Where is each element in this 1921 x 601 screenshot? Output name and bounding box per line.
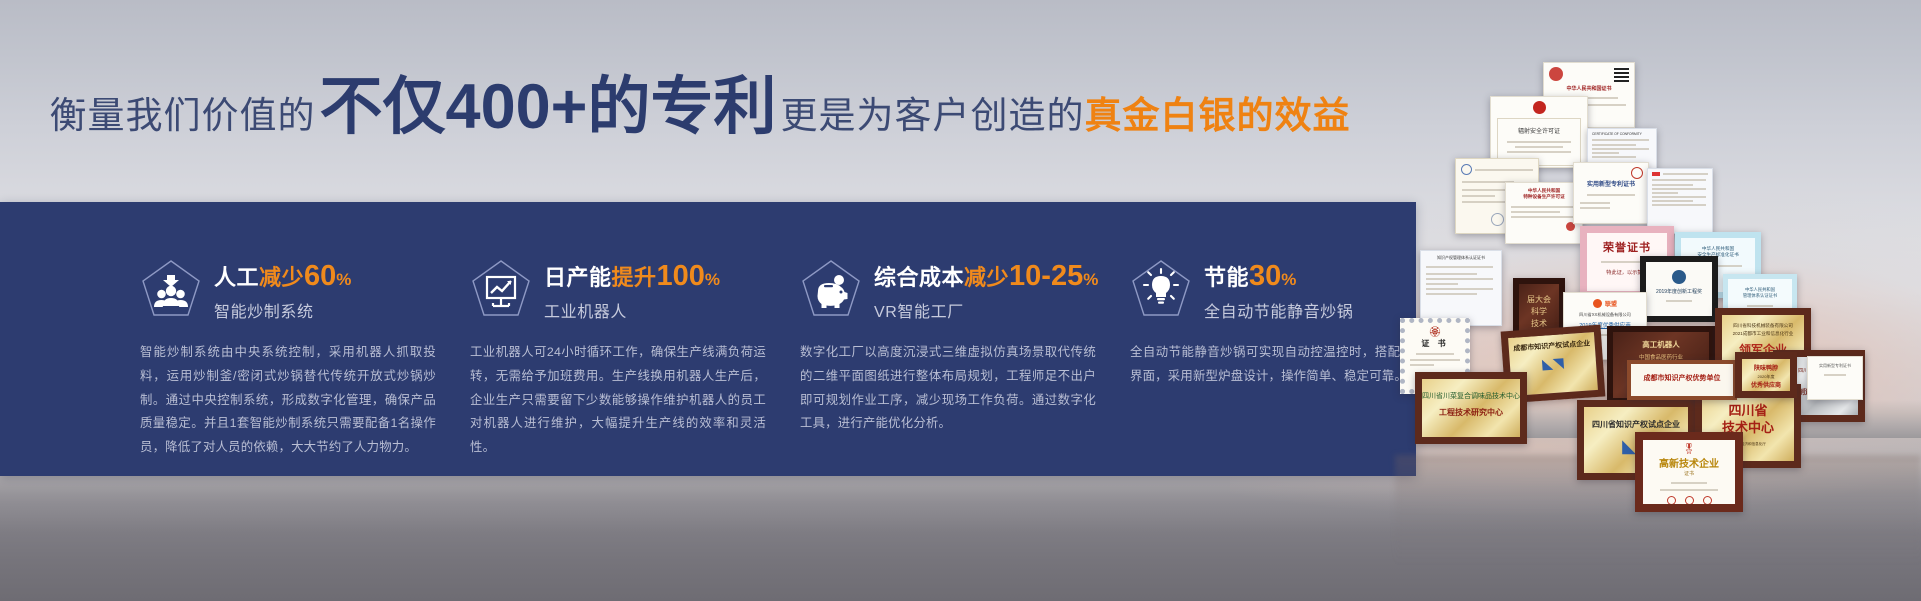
certificate-item: 知识产权管理体系认证证书 (1420, 250, 1502, 326)
award-plaque: 🎖 高新技术企业 证书 (1635, 432, 1743, 512)
feature-title-number: 100 (657, 260, 705, 292)
feature-title-percent: % (336, 270, 351, 289)
feature-item-labor-reduction: 人工减少60% 智能炒制系统 智能炒制系统由中央系统控制，采用机器人抓取投料，运… (140, 258, 470, 468)
feature-title: 节能30% (1204, 261, 1353, 291)
feature-description: 数字化工厂以高度沉浸式三维虚拟仿真场景取代传统的二维平面图纸进行整体布局规划，工… (800, 341, 1096, 436)
feature-text: 日产能提升100% 工业机器人 (544, 258, 720, 322)
feature-text: 人工减少60% 智能炒制系统 (214, 258, 351, 322)
award-plaque: 陕味鸭脖 2020年度 优秀供应商 (1735, 352, 1797, 398)
feature-title-white: 人工 (214, 265, 259, 290)
feature-title: 日产能提升100% (544, 261, 720, 291)
feature-subtitle: 工业机器人 (544, 298, 720, 322)
certificate-item (1647, 168, 1713, 234)
feature-subtitle: 全自动节能静音炒锅 (1204, 298, 1353, 322)
feature-subtitle: 智能炒制系统 (214, 298, 351, 322)
certificate-item: 成都市知识产权优势单位 (1627, 360, 1737, 400)
feature-title-orange: 减少 (964, 265, 1009, 290)
lightbulb-icon (1130, 258, 1192, 320)
headline-lead: 衡量我们价值的 (50, 85, 316, 139)
feature-description: 全自动节能静音炒锅可实现自动控温控时，搭配人机界面，采用新型炉盘设计，操作简单、… (1130, 341, 1426, 389)
feature-title-white: 节能 (1204, 265, 1249, 290)
certificate-item: 实用新型专利证书 (1573, 162, 1649, 224)
feature-description: 工业机器人可24小时循环工作，确保生产线满负荷运转，无需给予加班费用。生产线换用… (470, 341, 766, 460)
certificate-item: 实用新型专利证书 (1807, 356, 1863, 400)
certificate-item: 2019年度创新工程奖 (1640, 256, 1718, 322)
feature-text: 综合成本减少10-25% VR智能工厂 (874, 258, 1098, 322)
certificate-item: 中华人民共和国特种设备生产许可证 (1505, 182, 1583, 244)
feature-title: 综合成本减少10-25% (874, 261, 1098, 291)
feature-title-orange: 减少 (259, 265, 304, 290)
feature-header: 综合成本减少10-25% VR智能工厂 (800, 258, 1096, 324)
qr-code-icon (1614, 67, 1629, 82)
people-group-icon (140, 258, 202, 320)
seal-icon (1549, 67, 1563, 81)
headline-mid: 更是为客户创造的 (780, 85, 1084, 139)
feature-header: 人工减少60% 智能炒制系统 (140, 258, 436, 324)
feature-title-number: 10-25 (1009, 260, 1083, 292)
feature-title-percent: % (1083, 270, 1098, 289)
certificate-wall: 中华人民共和国证书 辐射安全许可证 CERTIFICATE OF CONFORM… (1395, 50, 1921, 530)
headline-highlight: 真金白银的效益 (1084, 85, 1350, 139)
piggy-bank-icon (800, 258, 862, 320)
feature-header: 日产能提升100% 工业机器人 (470, 258, 766, 324)
headline-emphasis: 不仅400+的专利 (316, 76, 781, 139)
feature-title-percent: % (705, 270, 720, 289)
feature-title: 人工减少60% (214, 261, 351, 291)
feature-header: 节能30% 全自动节能静音炒锅 (1130, 258, 1426, 324)
page-headline: 衡量我们价值的 不仅400+的专利 更是为客户创造的 真金白银的效益 (0, 76, 1400, 148)
feature-title-white: 日产能 (544, 265, 612, 290)
feature-title-number: 30 (1249, 260, 1281, 292)
award-plaque: 四川省川菜复合调味品技术中心 工程技术研究中心 (1415, 372, 1527, 444)
feature-text: 节能30% 全自动节能静音炒锅 (1204, 258, 1353, 322)
chart-board-icon (470, 258, 532, 320)
feature-item-cost-reduction: 综合成本减少10-25% VR智能工厂 数字化工厂以高度沉浸式三维虚拟仿真场景取… (800, 258, 1130, 468)
feature-title-white: 综合成本 (874, 265, 964, 290)
feature-title-number: 60 (304, 260, 336, 292)
features-list: 人工减少60% 智能炒制系统 智能炒制系统由中央系统控制，采用机器人抓取投料，运… (140, 258, 1430, 468)
feature-title-percent: % (1281, 270, 1296, 289)
feature-title-orange: 提升 (612, 265, 657, 290)
feature-item-capacity-increase: 日产能提升100% 工业机器人 工业机器人可24小时循环工作，确保生产线满负荷运… (470, 258, 800, 468)
feature-description: 智能炒制系统由中央系统控制，采用机器人抓取投料，运用炒制釜/密闭式炒锅替代传统开… (140, 341, 436, 460)
feature-subtitle: VR智能工厂 (874, 298, 1098, 322)
